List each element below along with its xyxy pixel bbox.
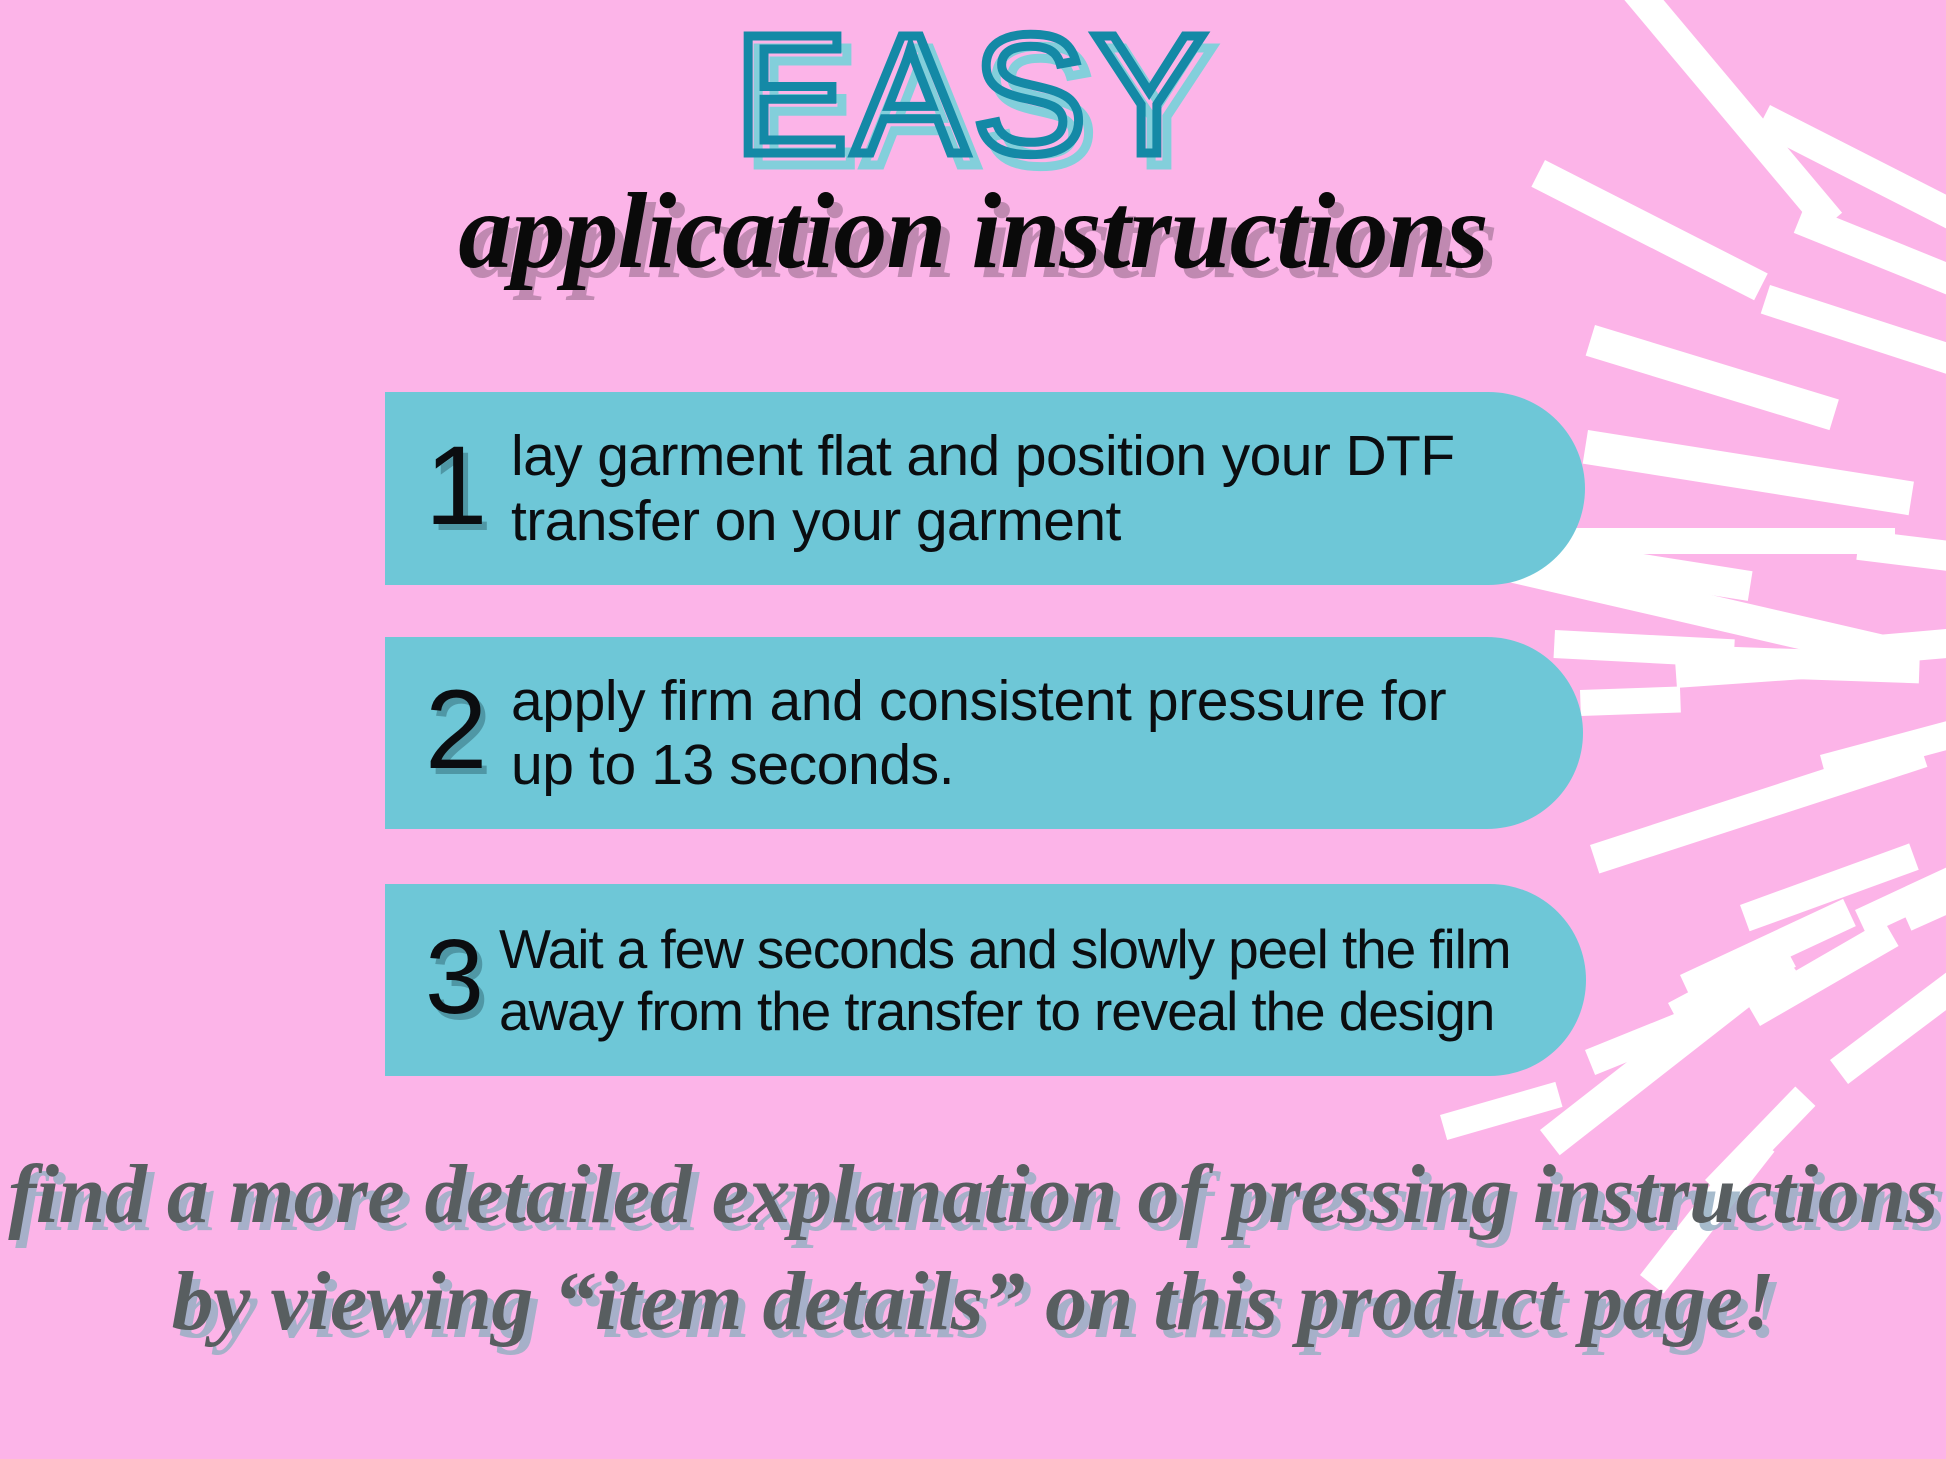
step-item-1: 1 lay garment flat and position your DTF… xyxy=(385,392,1585,585)
step-text-1: lay garment flat and position your DTF t… xyxy=(511,424,1515,553)
application-instructions-poster: EASY EASY application instructions 1 lay… xyxy=(0,0,1946,1459)
step-item-2: 2 apply firm and consistent pressure for… xyxy=(385,637,1583,829)
footer-note-line-1: find a more detailed explanation of pres… xyxy=(0,1142,1946,1249)
page-title-text: EASY xyxy=(0,10,1946,180)
step-number-1: 1 xyxy=(425,430,511,542)
step-number-2: 2 xyxy=(425,674,511,786)
page-subtitle: application instructions xyxy=(0,175,1946,289)
step-text-3: Wait a few seconds and slowly peel the f… xyxy=(499,918,1524,1042)
footer-note-line-2: by viewing “item details” on this produc… xyxy=(0,1249,1946,1356)
step-number-3: 3 xyxy=(425,924,499,1030)
step-item-3: 3 Wait a few seconds and slowly peel the… xyxy=(385,884,1586,1076)
step-text-2: apply firm and consistent pressure for u… xyxy=(511,669,1513,798)
page-title: EASY EASY xyxy=(0,10,1946,180)
footer-note: find a more detailed explanation of pres… xyxy=(0,1142,1946,1355)
